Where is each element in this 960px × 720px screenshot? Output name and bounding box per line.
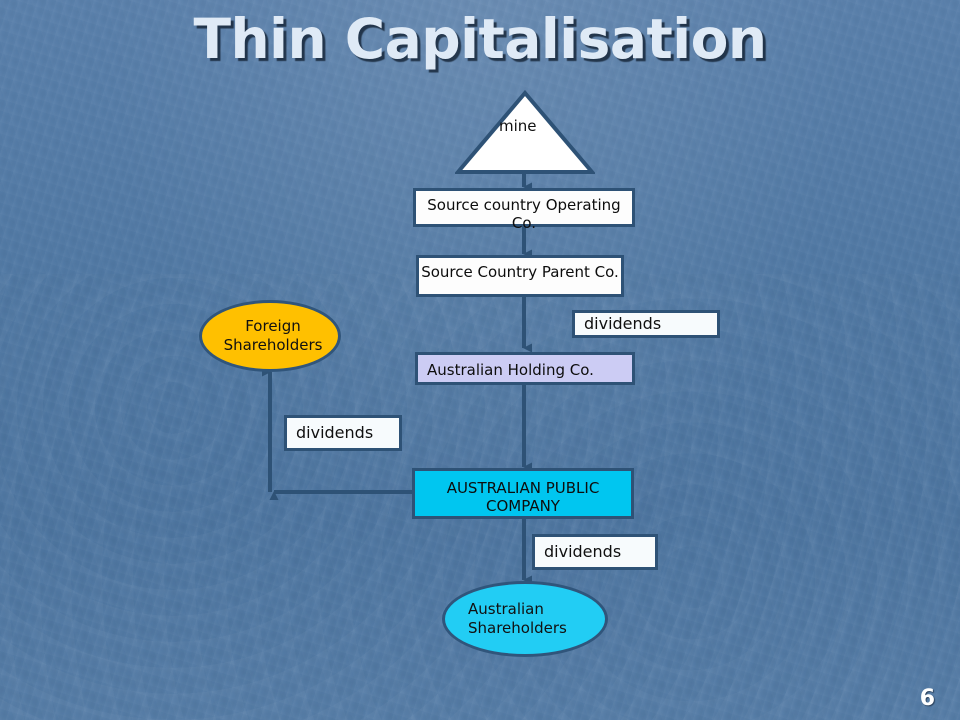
node-foreign-shareholders[interactable]: Foreign Shareholders — [199, 300, 341, 372]
node-australian-holding-co[interactable]: Australian Holding Co. — [415, 352, 635, 385]
node-australian-shareholders-label: Australian Shareholders — [468, 600, 560, 638]
node-australian-shareholders[interactable]: Australian Shareholders — [442, 581, 608, 657]
label-dividends-australian[interactable]: dividends — [532, 534, 658, 570]
node-australian-holding-co-label: Australian Holding Co. — [427, 361, 632, 379]
node-source-country-parent-co-label: Source Country Parent Co. — [419, 263, 621, 281]
node-australian-public-company-label: AUSTRALIAN PUBLIC COMPANY — [415, 479, 631, 515]
slide-canvas: Thin Capitalisation — [0, 0, 960, 720]
label-dividends-australian-text: dividends — [544, 542, 621, 562]
node-source-country-parent-co[interactable]: Source Country Parent Co. — [416, 255, 624, 297]
node-foreign-shareholders-label: Foreign Shareholders — [202, 317, 344, 355]
node-australian-public-company[interactable]: AUSTRALIAN PUBLIC COMPANY — [412, 468, 634, 519]
page-number: 6 — [920, 686, 935, 712]
node-mine-label: mine — [499, 117, 543, 136]
node-source-country-operating-co[interactable]: Source country Operating Co. — [413, 188, 635, 227]
label-dividends-holding-text: dividends — [584, 314, 661, 334]
node-source-country-operating-co-label: Source country Operating Co. — [416, 196, 632, 232]
label-dividends-foreign[interactable]: dividends — [284, 415, 402, 451]
label-dividends-holding[interactable]: dividends — [572, 310, 720, 338]
node-mine[interactable]: mine — [455, 90, 595, 175]
label-dividends-foreign-text: dividends — [296, 423, 373, 443]
